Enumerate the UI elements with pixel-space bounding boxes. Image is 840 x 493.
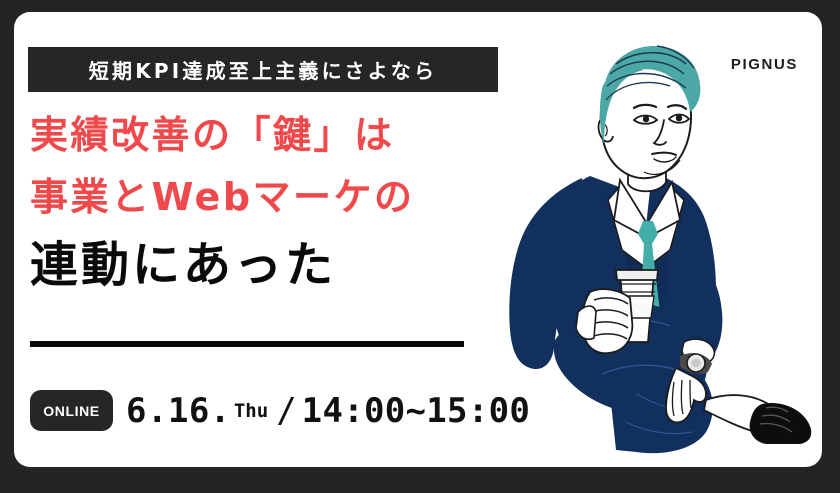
headline-line-1: 実績改善の「鍵」は [30,104,500,166]
businessman-illustration [494,12,822,467]
eyebrow-text: 短期KPI達成至上主義にさよなら [89,55,437,84]
headline-underline-rule [30,341,464,347]
eyebrow-banner: 短期KPI達成至上主義にさよなら [28,47,498,92]
dress-shoe [750,403,812,444]
left-shirt-cuff [576,306,596,339]
event-schedule-row: ONLINE 6.16. Thu / 14:00~15:00 [30,390,530,431]
online-badge-label: ONLINE [43,403,100,419]
event-day-of-week: Thu [234,400,268,422]
date-time-separator: / [276,391,296,431]
coffee-cup-lid [616,270,658,280]
online-badge: ONLINE [30,390,113,431]
headline-line-3: 連動にあった [30,228,500,302]
poster-card: PIGNUS 短期KPI達成至上主義にさよなら 実績改善の「鍵」は 事業とWeb… [14,12,822,467]
poster-frame: PIGNUS 短期KPI達成至上主義にさよなら 実績改善の「鍵」は 事業とWeb… [0,0,840,493]
headline-block: 実績改善の「鍵」は 事業とWebマーケの 連動にあった [30,104,500,302]
headline-line-2: 事業とWebマーケの [30,166,500,228]
event-date: 6.16. [126,391,231,431]
